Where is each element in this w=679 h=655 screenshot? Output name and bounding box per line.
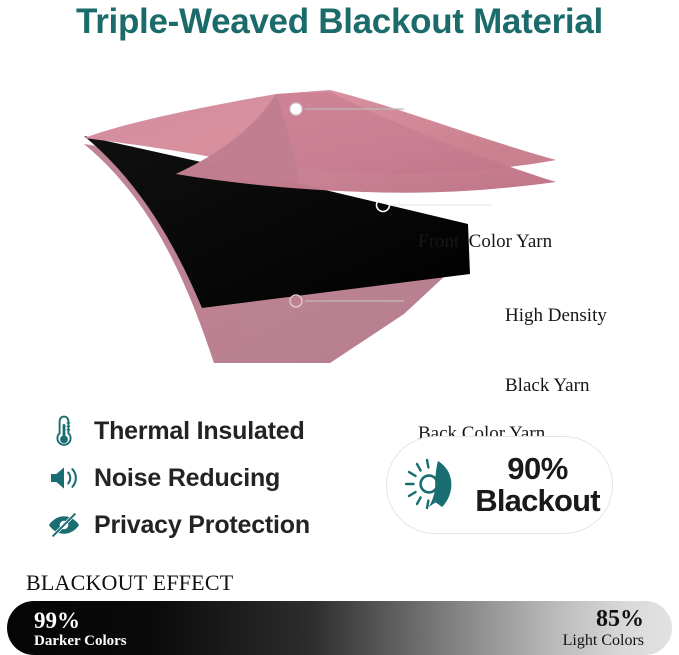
feature-label-noise-reducing: Noise Reducing [94,464,280,493]
fabric-layers-diagram: Front Color Yarn High Density Black Yarn… [0,78,679,363]
speaker-sound-icon [44,461,84,495]
darker-colors-caption: Darker Colors [34,633,127,650]
feature-label-privacy-protection: Privacy Protection [94,511,310,540]
feature-item-thermal-insulated: Thermal Insulated [44,410,364,452]
sun-blocked-by-curtain-icon [399,452,469,518]
darker-colors-percent: 99% [34,609,127,633]
label-front-color-yarn-line1: Front Color Yarn [418,230,552,253]
blackout-badge: 90% Blackout [386,436,613,534]
feature-list: Thermal Insulated Noise Reducing Privacy… [44,410,364,551]
blackout-effect-gradient-bar: 99% Darker Colors 85% Light Colors [7,601,672,655]
feature-item-privacy-protection: Privacy Protection [44,504,364,546]
feature-item-noise-reducing: Noise Reducing [44,457,364,499]
light-colors-percent: 85% [563,607,644,632]
feature-label-thermal-insulated: Thermal Insulated [94,417,305,446]
blackout-effect-light-colors: 85% Light Colors [563,607,644,650]
blackout-effect-heading: BLACKOUT EFFECT [26,570,233,596]
eye-slash-icon [44,508,84,542]
light-colors-caption: Light Colors [563,632,644,650]
blackout-badge-text: 90% Blackout [475,453,600,517]
label-high-density-black-yarn-line1: High Density [505,304,607,327]
blackout-badge-word: Blackout [475,485,600,517]
blackout-effect-darker-colors: 99% Darker Colors [34,609,127,650]
blackout-badge-percent: 90% [475,453,600,485]
thermometer-icon [44,414,84,448]
page-title: Triple-Weaved Blackout Material [0,2,679,42]
